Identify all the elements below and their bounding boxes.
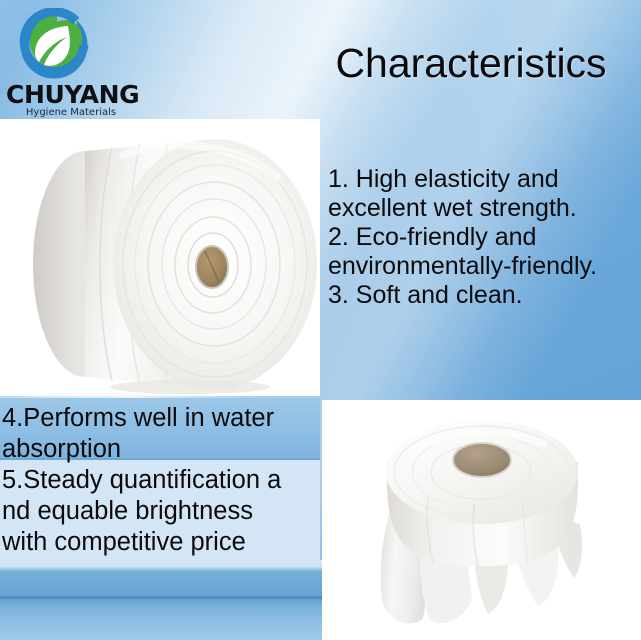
brand-logo-block: CHUYANG Hygiene Materials: [6, 4, 136, 120]
page-title: Characteristics: [306, 42, 636, 85]
product-characteristics-banner: CHUYANG Hygiene Materials Characteristic…: [0, 0, 641, 640]
roll-illustration-small: [322, 400, 641, 640]
brand-name: CHUYANG: [6, 82, 136, 107]
roll-illustration-large: [0, 119, 320, 396]
product-photo-small-roll: [322, 400, 641, 640]
product-photo-large-roll: [0, 119, 320, 396]
features-list-left: 4.Performs well in water absorption 5.St…: [2, 403, 320, 559]
features-list-right: 1. High elasticity and excellent wet str…: [328, 165, 638, 310]
brand-tagline: Hygiene Materials: [6, 107, 136, 118]
leaf-circle-logo-icon: [18, 8, 94, 82]
